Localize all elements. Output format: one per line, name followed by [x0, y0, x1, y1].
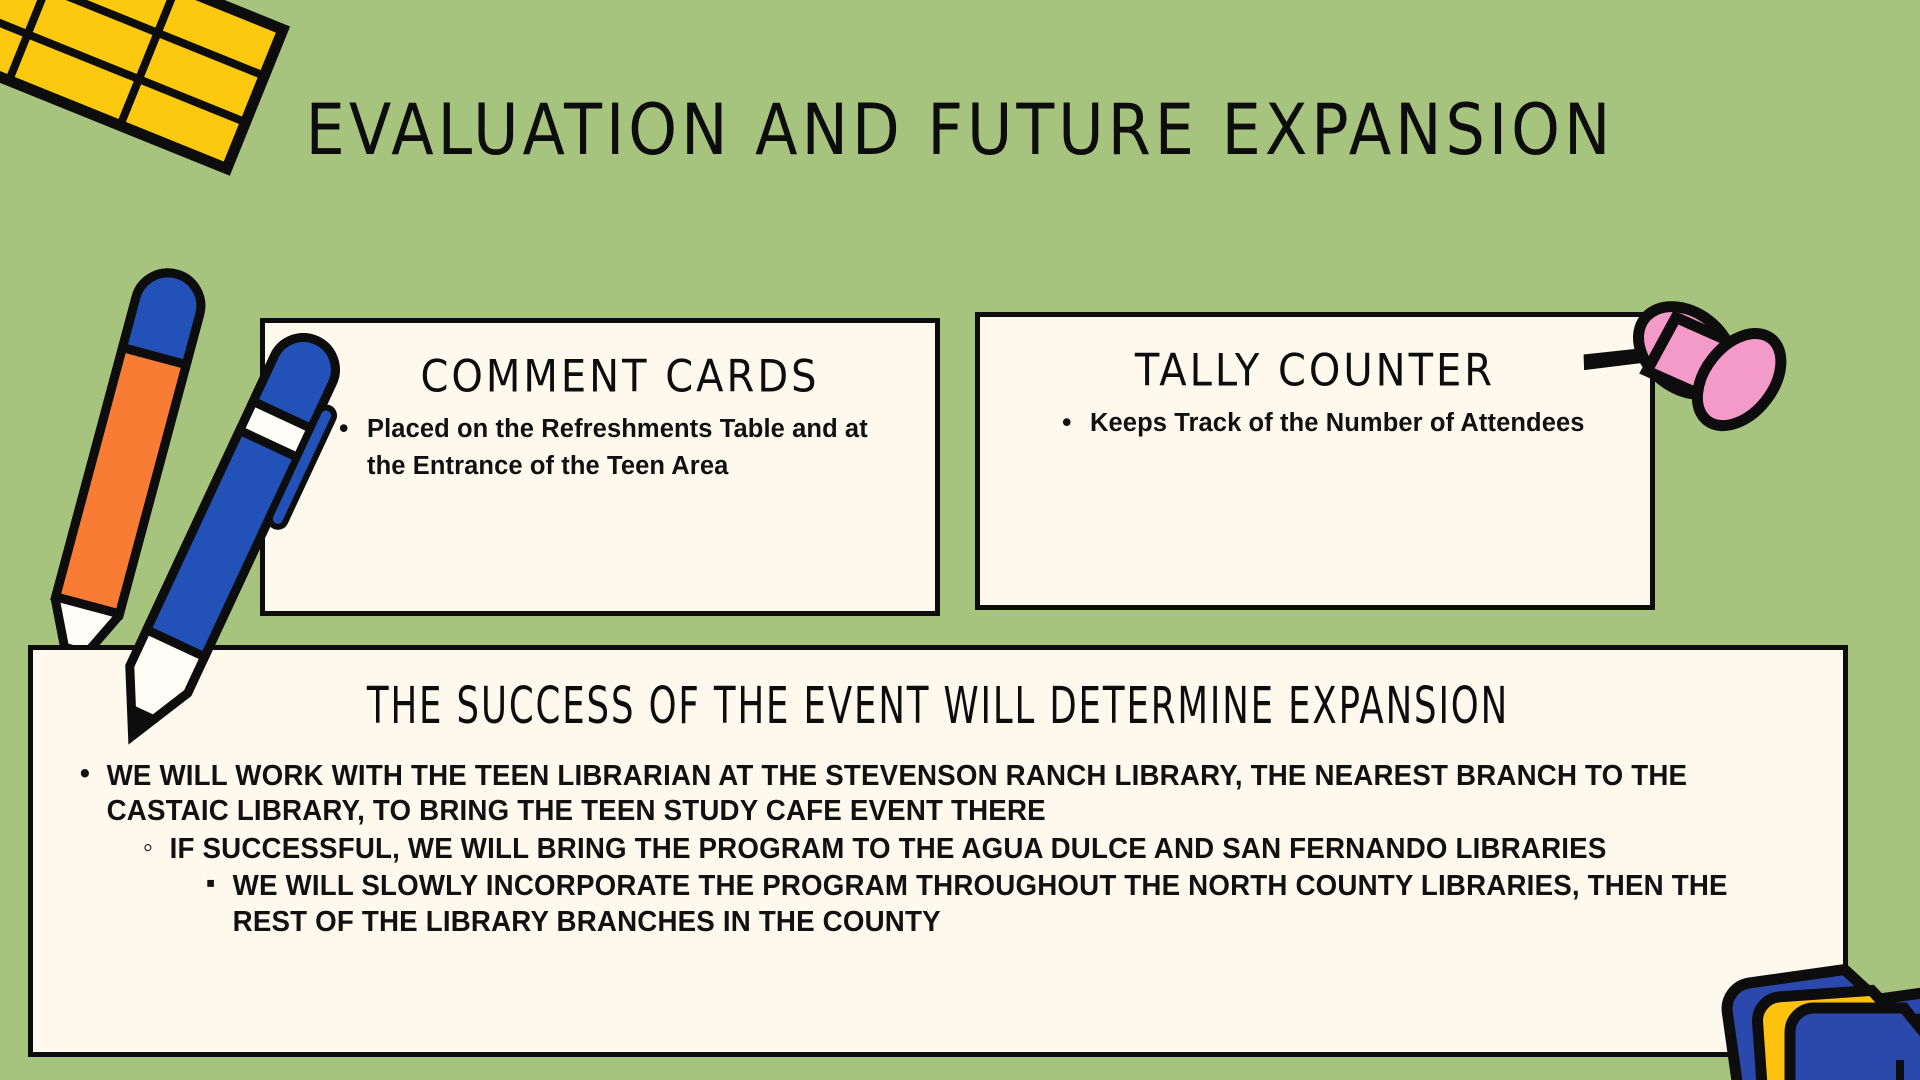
bottom-panel: THE SUCCESS OF THE EVENT WILL DETERMINE … [28, 645, 1848, 1057]
list-item: WE WILL WORK WITH THE TEEN LIBRARIAN AT … [55, 759, 1743, 830]
card-tally-counter: TALLY COUNTER Keeps Track of the Number … [975, 312, 1655, 610]
slide-canvas: EVALUATION AND FUTURE EXPANSION COMMENT … [0, 0, 1920, 1080]
list-item: Placed on the Refreshments Table and at … [337, 411, 875, 485]
bottom-panel-bullet-list: WE WILL WORK WITH THE TEEN LIBRARIAN AT … [33, 759, 1843, 940]
card-tally-counter-list: Keeps Track of the Number of Attendees [980, 405, 1650, 442]
orange-pen-icon [38, 265, 209, 681]
card-comment-cards-list: Placed on the Refreshments Table and at … [265, 411, 935, 485]
list-item: IF SUCCESSFUL, WE WILL BRING THE PROGRAM… [55, 832, 1743, 867]
bottom-panel-heading: THE SUCCESS OF THE EVENT WILL DETERMINE … [87, 676, 1788, 735]
card-tally-counter-title: TALLY COUNTER [980, 345, 1650, 397]
page-title: EVALUATION AND FUTURE EXPANSION [0, 88, 1920, 171]
card-comment-cards-title: COMMENT CARDS [265, 351, 935, 403]
list-item: WE WILL SLOWLY INCORPORATE THE PROGRAM T… [55, 869, 1743, 940]
list-item: Keeps Track of the Number of Attendees [1060, 405, 1590, 442]
card-comment-cards: COMMENT CARDS Placed on the Refreshments… [260, 318, 940, 616]
